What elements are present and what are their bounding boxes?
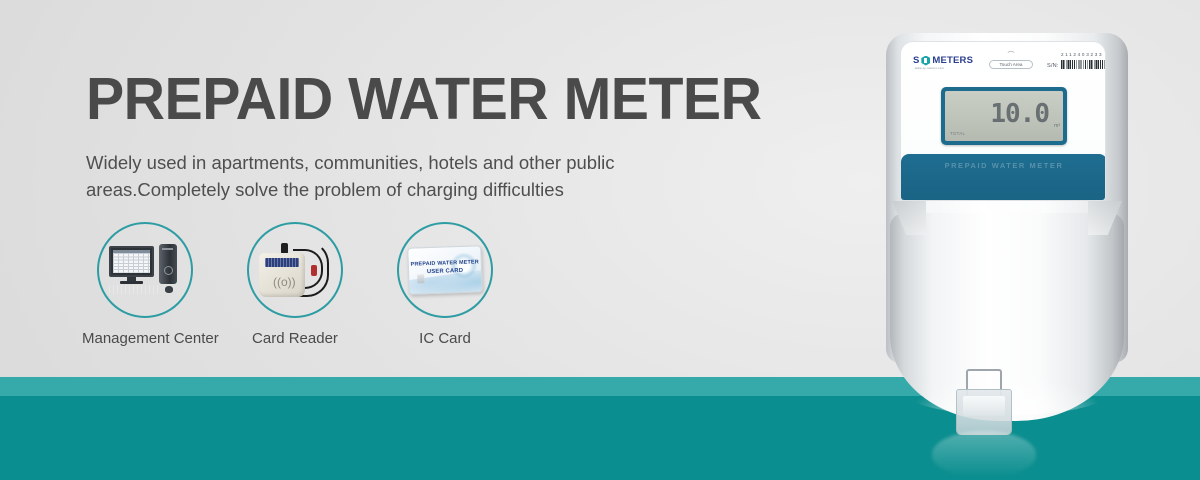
- card-chip-icon: [417, 274, 424, 283]
- meter-front-panel: S METERS www.sy-meters.com ⌒ Touch Area …: [900, 41, 1106, 201]
- page-title: PREPAID WATER METER: [86, 70, 761, 129]
- lcd-bezel: 10.0 m³ TOTAL: [941, 87, 1067, 145]
- page-subtitle: Widely used in apartments, communities, …: [86, 150, 686, 204]
- rfid-wave-icon: ((o)): [273, 275, 293, 289]
- brand-logo-s: S: [913, 55, 919, 66]
- feature-label: IC Card: [386, 330, 504, 347]
- meter-outlet-connector: [956, 389, 1012, 435]
- monitor-icon: [109, 246, 154, 277]
- reader-display-icon: [265, 258, 299, 267]
- feature-management-center[interactable]: Management Center: [86, 222, 204, 347]
- brand-logo-name: METERS: [932, 55, 973, 66]
- product-photo-water-meter: S METERS www.sy-meters.com ⌒ Touch Area …: [886, 33, 1128, 443]
- feature-card-reader[interactable]: ((o)) Card Reader: [236, 222, 354, 347]
- monitor-base-icon: [120, 281, 143, 284]
- barcode-icon: [1061, 60, 1105, 69]
- brand-logo: S METERS: [913, 55, 973, 66]
- feature-label: Management Center: [82, 330, 204, 347]
- card-face: PREPAID WATER METER USER CARD: [407, 245, 483, 295]
- feature-icon-circle: [97, 222, 193, 318]
- serial-number-value: 2112403233: [1061, 52, 1103, 57]
- feature-icon-circle: ((o)): [247, 222, 343, 318]
- reader-body-icon: ((o)): [259, 253, 305, 297]
- desktop-computer-icon: [107, 244, 183, 296]
- touch-area-label: Touch Area: [989, 60, 1033, 69]
- cable-tie-icon: [311, 265, 317, 276]
- lcd-value: 10.0: [990, 99, 1049, 129]
- lcd-display: 10.0 m³ TOTAL: [945, 91, 1063, 141]
- feature-icon-circle: PREPAID WATER METER USER CARD: [397, 222, 493, 318]
- meter-reflection: [932, 431, 1036, 477]
- card-reader-icon: ((o)): [255, 239, 335, 301]
- touch-arc-icon: ⌒: [989, 52, 1033, 59]
- feature-label: Card Reader: [236, 330, 354, 347]
- product-banner: PREPAID WATER METER Widely used in apart…: [0, 0, 1200, 480]
- feature-ic-card[interactable]: PREPAID WATER METER USER CARD IC Card: [386, 222, 504, 347]
- ic-card-icon: PREPAID WATER METER USER CARD: [407, 245, 483, 295]
- keyboard-icon: [109, 285, 161, 294]
- mouse-icon: [165, 286, 173, 293]
- serial-number-label: S/N:: [1047, 63, 1059, 69]
- lcd-mini-label: TOTAL: [950, 131, 965, 136]
- lcd-unit: m³: [1054, 123, 1060, 129]
- meter-teal-panel: PREPAID WATER METER: [901, 154, 1106, 201]
- touch-area-marker: ⌒ Touch Area: [989, 52, 1033, 69]
- meter-panel-text: PREPAID WATER METER: [901, 161, 1106, 170]
- pc-tower-icon: [159, 244, 177, 284]
- screen-icon: [113, 250, 150, 273]
- brand-tagline: www.sy-meters.com: [915, 67, 944, 70]
- brand-hexagon-icon: [921, 56, 930, 66]
